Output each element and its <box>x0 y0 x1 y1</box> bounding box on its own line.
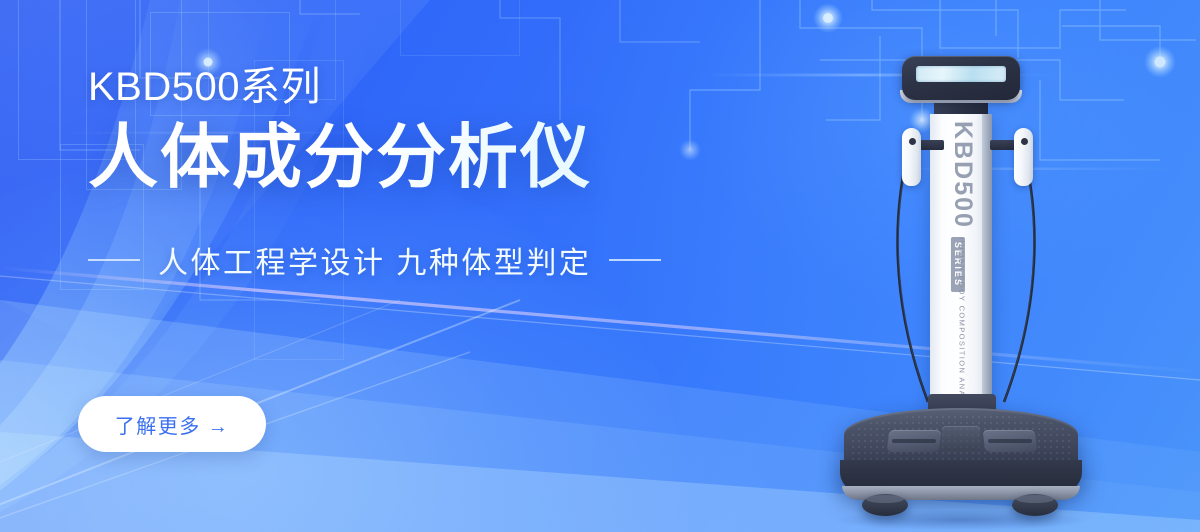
platform-foot-cap-left <box>866 495 904 503</box>
handle-button-right-icon <box>1021 138 1028 145</box>
handle-button-left-icon <box>909 138 916 145</box>
dash-left-icon <box>88 259 140 261</box>
hero-subtitle: 人体工程学设计 九种体型判定 <box>158 238 591 282</box>
hero-subtitle-row: 人体工程学设计 九种体型判定 <box>88 238 688 282</box>
pad-strip-left <box>892 439 936 443</box>
platform-center-plate <box>942 426 980 450</box>
hand-electrode-left[interactable] <box>902 128 921 186</box>
hero-banner: KBD500系列 人体成分分析仪 人体工程学设计 九种体型判定 了解更多 → K… <box>0 0 1200 532</box>
display-screen[interactable] <box>916 66 1006 82</box>
handle-clip-left <box>918 140 944 150</box>
dash-right-icon <box>609 259 661 261</box>
hero-copy: KBD500系列 人体成分分析仪 人体工程学设计 九种体型判定 <box>88 66 688 282</box>
handle-clip-right <box>990 140 1016 150</box>
device-tagline-block: HUMAN BODY COMPOSITION ANALYZER <box>934 282 990 402</box>
platform-foot-cap-right <box>1016 495 1054 503</box>
learn-more-button[interactable]: 了解更多 → <box>78 396 266 452</box>
device-brand-model: KBD500 <box>948 121 977 229</box>
pad-strip-right <box>988 439 1032 443</box>
product-image-body-composition-analyzer: KBD500 SERIES HUMAN BODY COMPOSITION ANA… <box>806 42 1116 522</box>
hand-electrode-right[interactable] <box>1014 128 1033 186</box>
page-title: 人体成分分析仪 <box>88 118 688 196</box>
hero-eyebrow: KBD500系列 <box>88 66 688 108</box>
